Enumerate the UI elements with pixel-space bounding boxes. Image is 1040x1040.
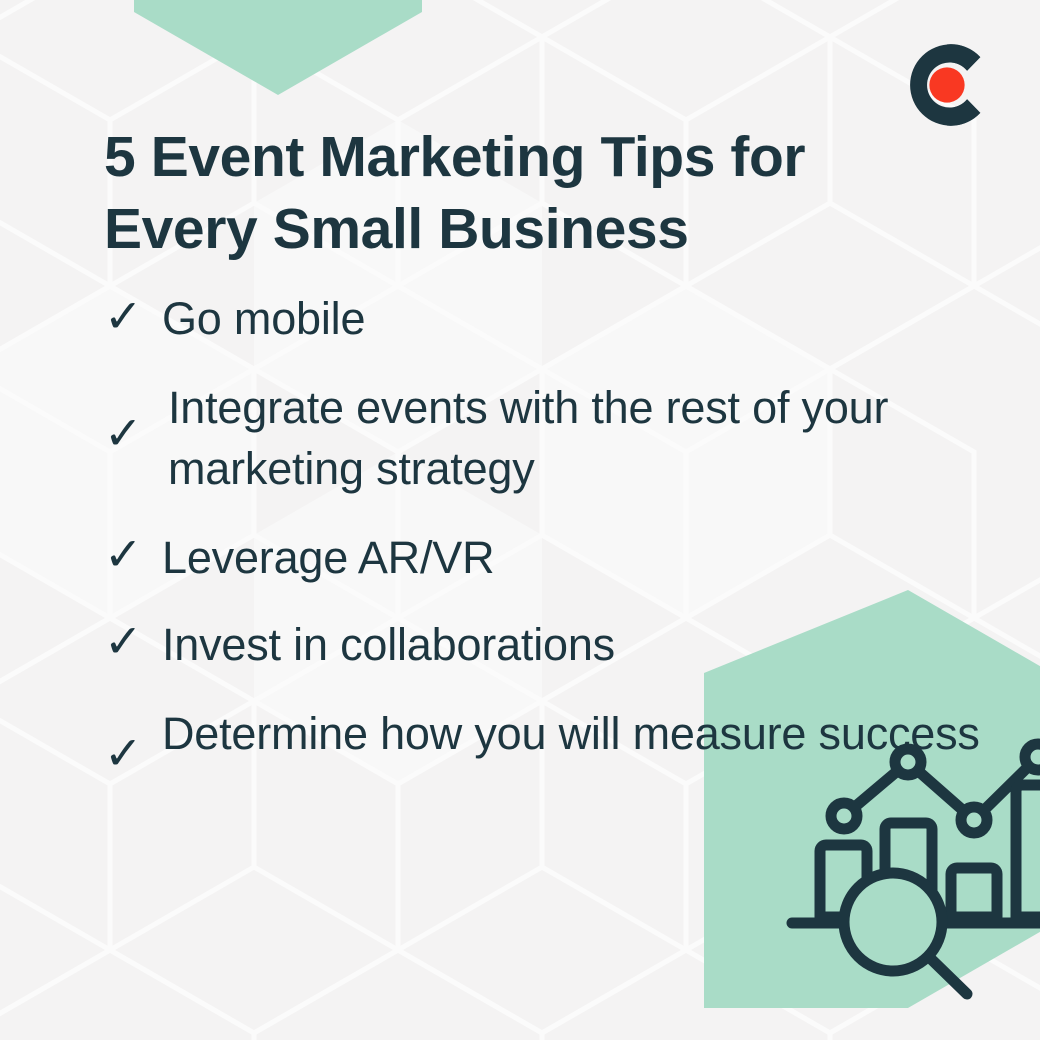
logo-dot-icon: [929, 67, 964, 102]
list-item: ✓ Determine how you will measure success: [104, 703, 1014, 803]
page-title: 5 Event Marketing Tips for Every Small B…: [104, 122, 944, 266]
list-item-label: Invest in collaborations: [162, 614, 1014, 675]
list-item: ✓ Integrate events with the rest of your…: [104, 377, 1014, 499]
poster-content: 5 Event Marketing Tips for Every Small B…: [0, 0, 1040, 1040]
poster-canvas: 5 Event Marketing Tips for Every Small B…: [0, 0, 1040, 1040]
check-icon: ✓: [104, 614, 162, 668]
list-item-label: Go mobile: [162, 288, 1014, 349]
logo-c-icon-bridge: [947, 44, 980, 71]
list-item: ✓ Go mobile: [104, 288, 1014, 349]
tips-list: ✓ Go mobile ✓ Integrate events with the …: [104, 288, 1014, 825]
list-item-label: Integrate events with the rest of your m…: [162, 377, 1014, 499]
check-icon: ✓: [104, 703, 162, 803]
list-item-label: Leverage AR/VR: [162, 527, 1014, 588]
logo-c-icon-bridge-lower: [947, 99, 980, 126]
list-item-label: Determine how you will measure success: [162, 703, 1014, 764]
c-monogram-logo[interactable]: [898, 36, 996, 134]
check-icon: ✓: [104, 377, 162, 489]
list-item: ✓ Invest in collaborations: [104, 614, 1014, 675]
check-icon: ✓: [104, 527, 162, 581]
check-icon: ✓: [104, 288, 162, 344]
list-item: ✓ Leverage AR/VR: [104, 527, 1014, 588]
